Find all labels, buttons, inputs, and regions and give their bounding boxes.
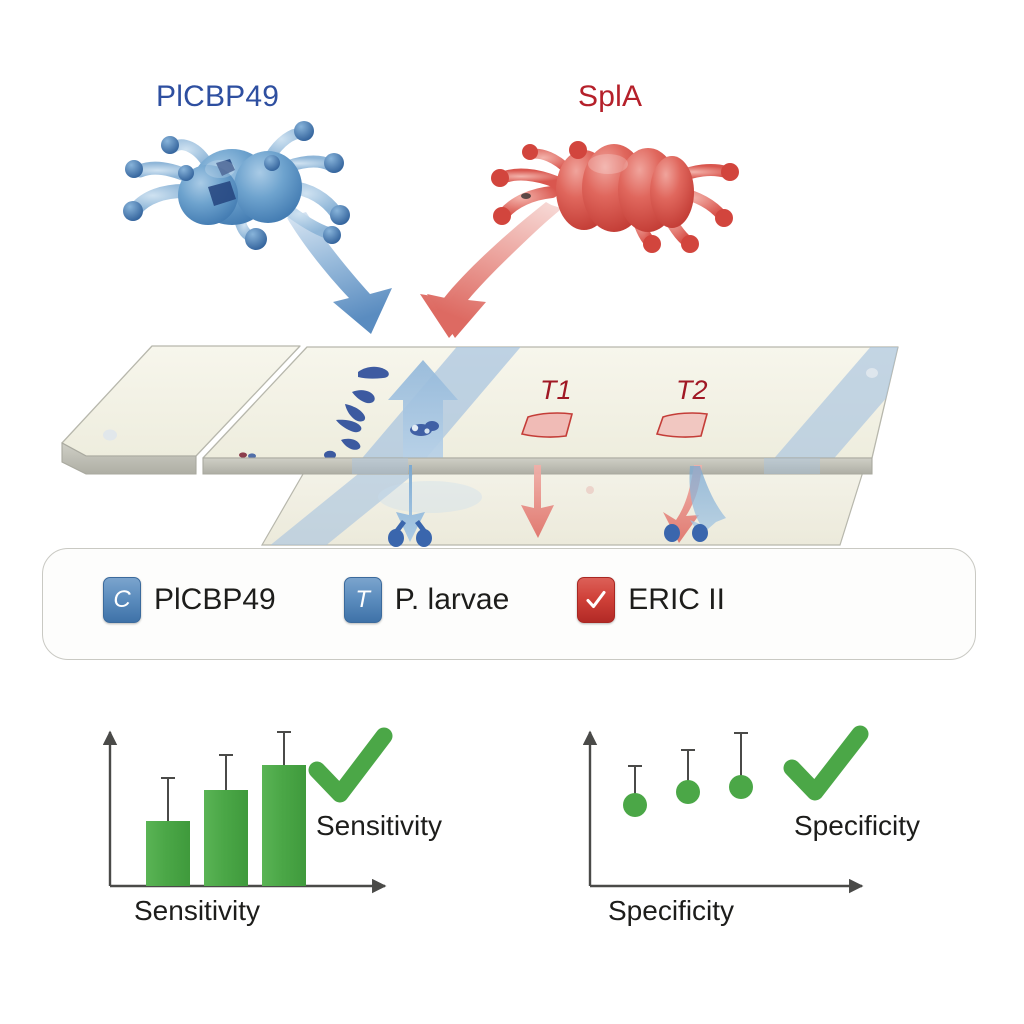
specificity-side-label: Specificity: [794, 810, 920, 842]
badge-letter-t: T: [355, 586, 370, 614]
dot-1: [623, 793, 647, 817]
legend-label-plcbp49: PlCBP49: [154, 583, 276, 617]
figure-canvas: PlCBP49 SplA T1 T2 C PlCBP49 T P. larvae: [0, 0, 1024, 1024]
schematic-illustration: [0, 0, 1024, 560]
test-line-t1-label: T1: [540, 375, 572, 406]
legend-box: C PlCBP49 T P. larvae ERIC II: [42, 548, 976, 660]
test-line-badge-icon: T: [344, 577, 382, 623]
bar-3: [262, 765, 306, 886]
control-line-badge-icon: C: [103, 577, 141, 623]
bar-1: [146, 821, 190, 886]
sensitivity-chart: [110, 732, 385, 886]
bar-2: [204, 790, 248, 886]
sensitivity-check-icon: [317, 736, 384, 794]
specificity-x-label: Specificity: [608, 895, 734, 927]
specificity-check-icon: [792, 734, 860, 792]
legend-item-p-larvae[interactable]: T P. larvae: [344, 577, 510, 623]
dot-3: [729, 775, 753, 799]
legend-item-eric-ii[interactable]: ERIC II: [577, 577, 725, 623]
sensitivity-x-label: Sensitivity: [134, 895, 260, 927]
check-icon: [584, 588, 608, 612]
spla-label: SplA: [578, 80, 642, 114]
red-entry-arrow: [420, 202, 561, 338]
strip-main-slab: [62, 336, 940, 474]
plcbp49-label: PlCBP49: [156, 80, 279, 114]
legend-row: C PlCBP49 T P. larvae ERIC II: [103, 577, 725, 623]
specificity-chart: [590, 732, 862, 886]
check-mark-badge-icon: [577, 577, 615, 623]
dot-2: [676, 780, 700, 804]
test-line-t2-label: T2: [676, 375, 708, 406]
legend-label-eric-ii: ERIC II: [628, 583, 725, 617]
plcbp49-organism: [123, 121, 350, 250]
legend-label-p-larvae: P. larvae: [395, 583, 510, 617]
legend-item-plcbp49[interactable]: C PlCBP49: [103, 577, 276, 623]
sensitivity-side-label: Sensitivity: [316, 810, 442, 842]
badge-letter-c: C: [113, 586, 130, 614]
